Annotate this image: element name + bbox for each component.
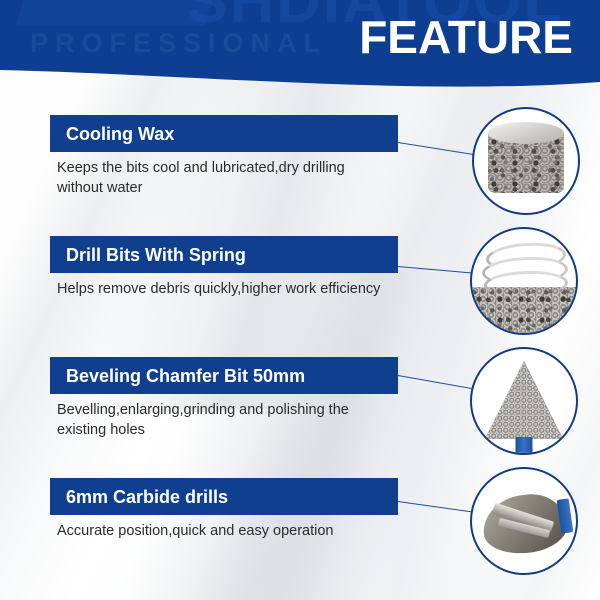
page-header: SHDIATOOL PROFESSIONAL FEATURE: [0, 0, 600, 92]
beveling-chamfer-bit-photo: [470, 347, 578, 455]
chamfer-photo-inner: [472, 349, 576, 453]
feature-description-4: Accurate position,quick and easy operati…: [57, 521, 387, 541]
feature-infographic-page: SHDIATOOL PROFESSIONAL FEATURE Cooling W…: [0, 0, 600, 600]
cooling-wax-photo-inner: [474, 109, 578, 213]
feature-title-1: Cooling Wax: [66, 123, 174, 145]
spring-photo-inner: [472, 229, 576, 333]
carbide-drill-tip-photo: [470, 467, 578, 575]
feature-title-bar-3[interactable]: Beveling Chamfer Bit 50mm: [50, 357, 398, 394]
feature-title-3: Beveling Chamfer Bit 50mm: [66, 365, 305, 387]
feature-title-bar-4[interactable]: 6mm Carbide drills: [50, 478, 398, 515]
cooling-wax-block-photo: [472, 107, 580, 215]
feature-description-2: Helps remove debris quickly,higher work …: [57, 279, 387, 299]
feature-title-4: 6mm Carbide drills: [66, 486, 228, 508]
page-title: FEATURE: [359, 11, 573, 63]
feature-description-1: Keeps the bits cool and lubricated,dry d…: [57, 158, 387, 198]
carbide-photo-inner: [472, 469, 576, 573]
wax-block-top-face: [488, 122, 564, 144]
feature-description-3: Bevelling,enlarging,grinding and polishi…: [57, 400, 387, 440]
drill-bit-spring-photo: [470, 227, 578, 335]
feature-title-2: Drill Bits With Spring: [66, 244, 246, 266]
header-watermark-subtitle: PROFESSIONAL: [30, 28, 327, 59]
feature-title-bar-1[interactable]: Cooling Wax: [50, 115, 398, 152]
chamfer-cone-shank: [516, 437, 533, 453]
feature-title-bar-2[interactable]: Drill Bits With Spring: [50, 236, 398, 273]
